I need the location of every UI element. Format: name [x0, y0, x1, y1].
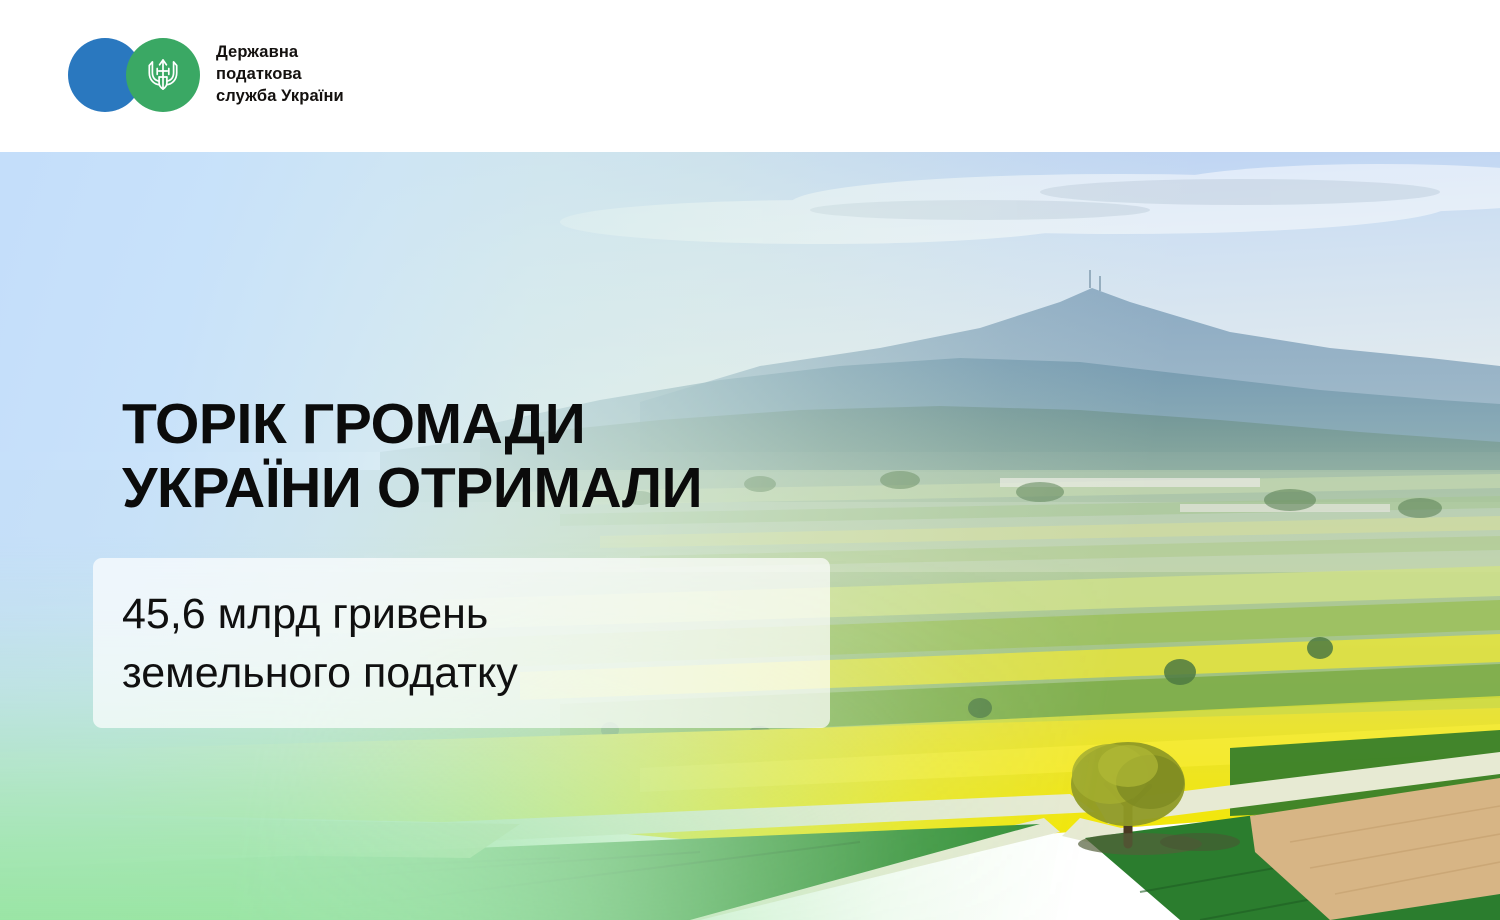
- photo-green-wash: [0, 152, 1500, 920]
- headline-line-2: УКРАЇНИ ОТРИМАЛИ: [122, 456, 702, 520]
- logo-text-line-3: служба України: [216, 86, 344, 108]
- header-bar: Державна податкова служба України: [0, 0, 1500, 152]
- logo-wordmark: Державна податкова служба України: [216, 42, 344, 108]
- poster-root: Державна податкова служба України: [0, 0, 1500, 920]
- logo-marks: [68, 38, 200, 112]
- logo-text-line-1: Державна: [216, 42, 344, 64]
- headline-line-1: ТОРІК ГРОМАДИ: [122, 392, 702, 456]
- background-photo: [0, 152, 1500, 920]
- green-circle: [126, 38, 200, 112]
- page-title: ТОРІК ГРОМАДИ УКРАЇНИ ОТРИМАЛИ: [122, 392, 702, 521]
- subtitle-line-2: земельного податку: [122, 644, 518, 703]
- dps-logo[interactable]: Державна податкова служба України: [68, 38, 344, 112]
- trident-icon: [146, 55, 180, 95]
- subtitle-panel: 45,6 млрд гривень земельного податку: [93, 558, 830, 728]
- subtitle-text: 45,6 млрд гривень земельного податку: [122, 585, 518, 703]
- logo-text-line-2: податкова: [216, 64, 344, 86]
- subtitle-line-1: 45,6 млрд гривень: [122, 585, 518, 644]
